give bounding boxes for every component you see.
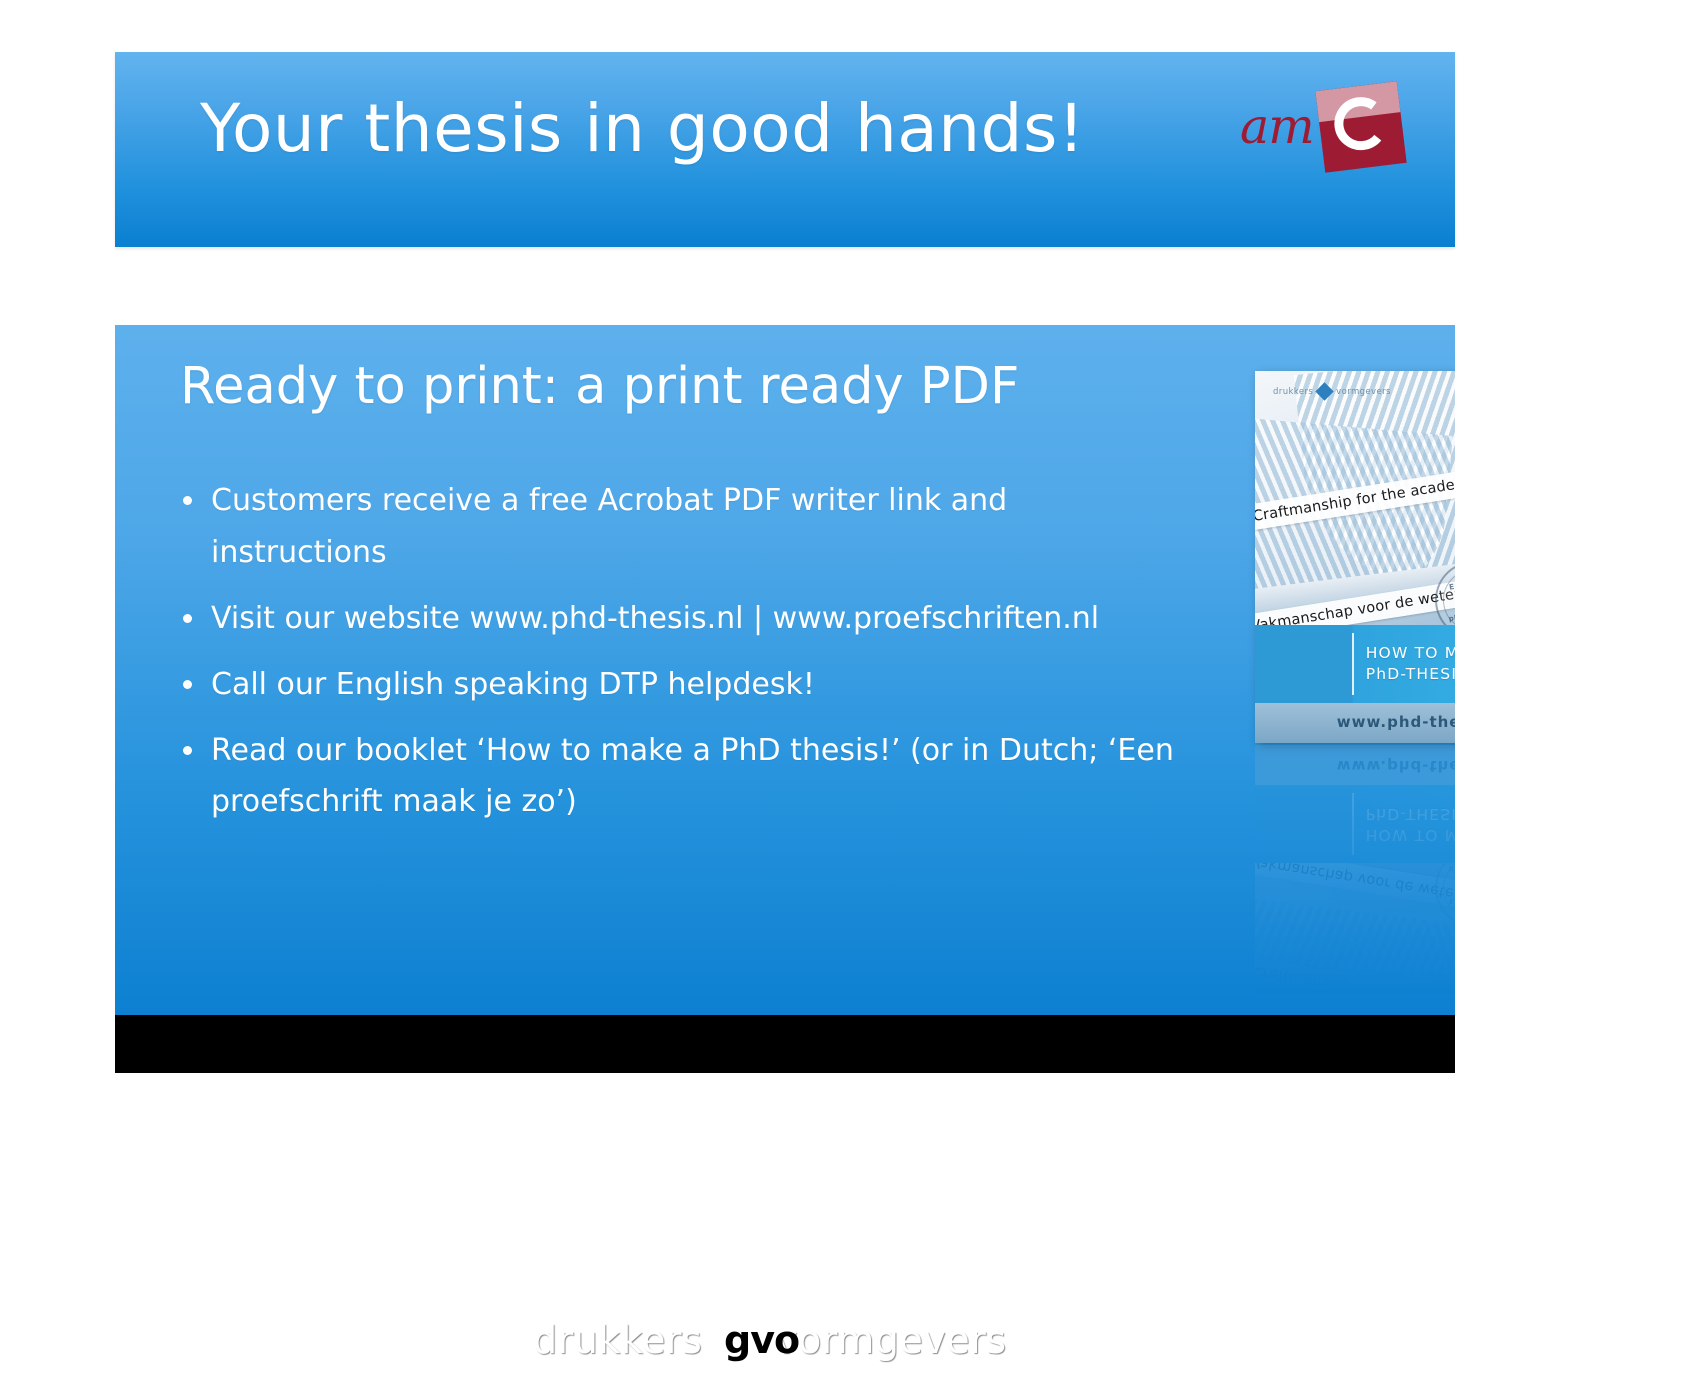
list-item: Visit our website www.phd-thesis.nl | ww… (173, 593, 1183, 645)
list-item: Read our booklet ‘How to make a PhD thes… (173, 725, 1183, 829)
booklet-title-line2: PhD-THESIS! (1366, 664, 1455, 685)
bullet-dot-icon (183, 680, 192, 689)
slide: Your thesis in good hands! am Ready to p… (0, 0, 1684, 1190)
diamond-icon (1315, 382, 1333, 400)
reflection-fade-mask (1255, 745, 1455, 995)
booklet-cover-bottom: www.phd-thesis.nl (1255, 703, 1455, 743)
amc-c-mark-icon (1322, 88, 1393, 159)
list-item-text: Customers receive a free Acrobat PDF wri… (211, 483, 1007, 570)
seal-top-text: Expertise (1448, 576, 1455, 593)
footer-word-left: drukkers (533, 1318, 702, 1362)
booklet-title-band: HOW TO MAKE A PhD-THESIS! (1255, 625, 1455, 703)
seal-url-text: phd-thesis.nl (1448, 607, 1455, 625)
page-title: Your thesis in good hands! (200, 94, 1085, 163)
list-item: Customers receive a free Acrobat PDF wri… (173, 475, 1183, 579)
amc-logo: am (1238, 80, 1413, 195)
booklet-brand-left: drukkers (1273, 387, 1313, 397)
bullet-dot-icon (183, 496, 192, 505)
bullet-dot-icon (183, 746, 192, 755)
footer-bar (115, 1015, 1455, 1073)
footer-gvo-mark: gvo (724, 1318, 799, 1362)
section-heading: Ready to print: a print ready PDF (180, 357, 1019, 416)
content-panel: Ready to print: a print ready PDF Custom… (115, 325, 1455, 1015)
diamond-icon (709, 1281, 794, 1366)
list-item-text: Visit our website www.phd-thesis.nl | ww… (211, 601, 1099, 636)
gvo-footer-logo: drukkers gvo vormgevers (115, 1290, 1455, 1390)
booklet-image-wrap: drukkers vormgevers Craftmanship for the… (1137, 325, 1455, 1015)
booklet-url: www.phd-thesis.nl (1337, 713, 1455, 731)
booklet-reflection: Craftmanship for the academic world Vakm… (1255, 745, 1455, 995)
amc-logo-text: am (1240, 102, 1314, 151)
booklet-brand-right: vormgevers (1336, 387, 1391, 397)
list-item-text: Call our English speaking DTP helpdesk! (211, 667, 815, 702)
title-bar: Your thesis in good hands! am (115, 52, 1455, 247)
bullet-dot-icon (183, 614, 192, 623)
bullet-list: Customers receive a free Acrobat PDF wri… (173, 475, 1183, 842)
list-item: Call our English speaking DTP helpdesk! (173, 659, 1183, 711)
booklet-title: HOW TO MAKE A PhD-THESIS! (1366, 643, 1455, 685)
list-item-text: Read our booklet ‘How to make a PhD thes… (211, 733, 1174, 820)
booklet-title-line1: HOW TO MAKE A (1366, 643, 1455, 664)
booklet-cover-image: drukkers vormgevers Craftmanship for the… (1255, 371, 1455, 743)
footer-word-right: vormgevers (775, 1318, 1007, 1362)
booklet-brand-logo: drukkers vormgevers (1273, 385, 1391, 398)
